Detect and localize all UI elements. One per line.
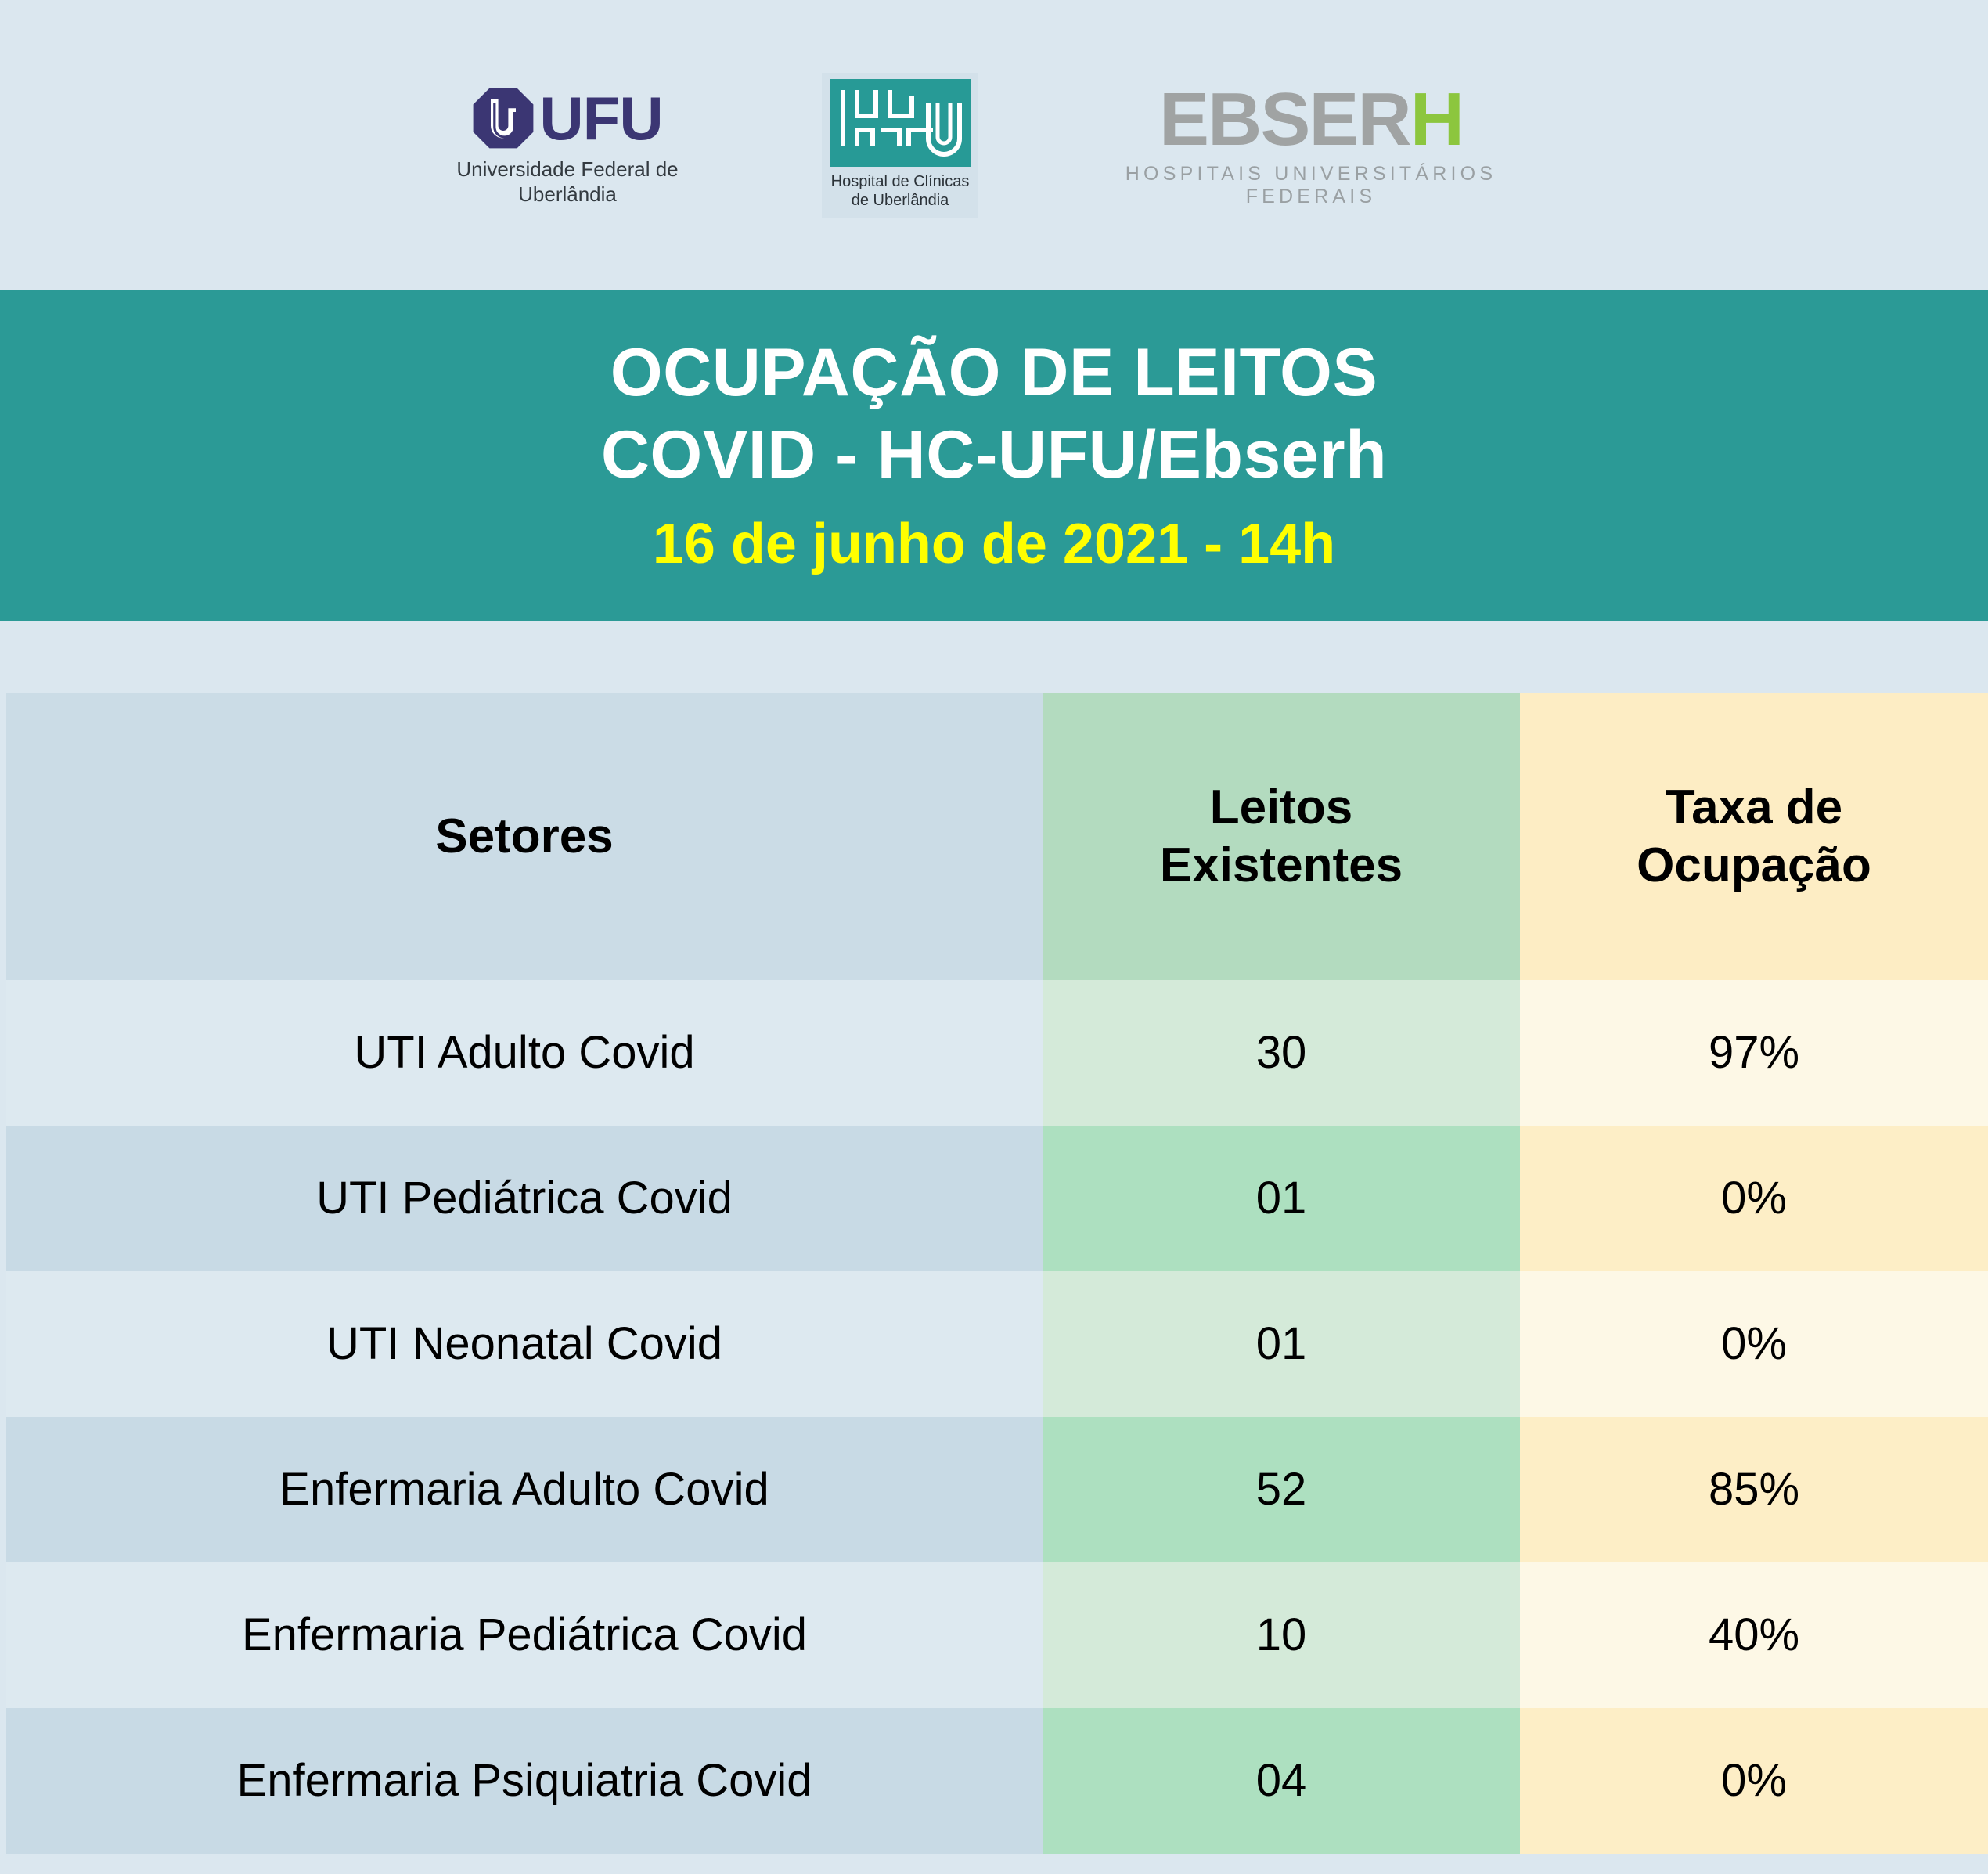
column-header-setores: Setores (6, 693, 1043, 980)
banner-title: OCUPAÇÃO DE LEITOS COVID - HC-UFU/Ebserh (601, 332, 1387, 496)
logo-bar: UFU Universidade Federal de Uberlândia (0, 0, 1988, 290)
ufu-emblem-icon (472, 87, 535, 150)
cell-leitos: 01 (1043, 1126, 1520, 1271)
column-header-leitos-line2: Existentes (1160, 837, 1403, 894)
cell-setor: Enfermaria Adulto Covid (6, 1417, 1043, 1562)
cell-leitos: 52 (1043, 1417, 1520, 1562)
table-row: Enfermaria Psiquiatria Covid 04 0% (6, 1708, 1988, 1854)
cell-taxa: 85% (1520, 1417, 1988, 1562)
column-header-taxa-line2: Ocupação (1637, 837, 1871, 894)
table-header-row: Setores Leitos Existentes Taxa de Ocupaç… (6, 693, 1988, 980)
banner-date: 16 de junho de 2021 - 14h (653, 510, 1335, 578)
occupancy-table: Setores Leitos Existentes Taxa de Ocupaç… (6, 693, 1988, 1854)
ebserh-wordmark-green: H (1410, 77, 1463, 161)
cell-taxa: 97% (1520, 980, 1988, 1126)
cell-leitos: 01 (1043, 1271, 1520, 1417)
cell-taxa: 0% (1520, 1126, 1988, 1271)
ufu-mark-row: UFU (472, 87, 662, 150)
column-header-leitos-existentes: Leitos Existentes (1043, 693, 1520, 980)
column-header-leitos-line1: Leitos (1160, 779, 1403, 836)
cell-taxa: 0% (1520, 1271, 1988, 1417)
ebserh-wordmark-gray: EBSER (1159, 77, 1410, 161)
ebserh-logo: EBSERH HOSPITAIS UNIVERSITÁRIOS FEDERAIS (1104, 81, 1518, 208)
ufu-subtitle-line1: Universidade Federal de (456, 157, 678, 182)
cell-setor: Enfermaria Psiquiatria Covid (6, 1708, 1043, 1854)
ufu-logo: UFU Universidade Federal de Uberlândia (438, 87, 697, 207)
cell-setor: UTI Neonatal Covid (6, 1271, 1043, 1417)
cell-leitos: 04 (1043, 1708, 1520, 1854)
infographic-page: UFU Universidade Federal de Uberlândia (0, 0, 1988, 1874)
ebserh-subtitle: HOSPITAIS UNIVERSITÁRIOS FEDERAIS (1104, 163, 1518, 208)
table-row: Enfermaria Adulto Covid 52 85% (6, 1417, 1988, 1562)
ufu-subtitle: Universidade Federal de Uberlândia (456, 157, 678, 207)
cell-leitos: 30 (1043, 980, 1520, 1126)
ebserh-wordmark: EBSERH (1159, 81, 1463, 158)
cell-taxa: 40% (1520, 1562, 1988, 1708)
banner-title-line1: OCUPAÇÃO DE LEITOS (601, 332, 1387, 414)
hc-ufu-emblem-icon (830, 79, 971, 167)
cell-setor: Enfermaria Pediátrica Covid (6, 1562, 1043, 1708)
cell-taxa: 0% (1520, 1708, 1988, 1854)
hc-ufu-logo: Hospital de Clínicas de Uberlândia (822, 73, 978, 218)
ufu-wordmark: UFU (539, 87, 662, 150)
cell-leitos: 10 (1043, 1562, 1520, 1708)
table-row: Enfermaria Pediátrica Covid 10 40% (6, 1562, 1988, 1708)
ufu-subtitle-line2: Uberlândia (456, 182, 678, 207)
title-banner: OCUPAÇÃO DE LEITOS COVID - HC-UFU/Ebserh… (0, 290, 1988, 621)
hc-subtitle-line1: Hospital de Clínicas (831, 172, 970, 191)
banner-title-line2: COVID - HC-UFU/Ebserh (601, 414, 1387, 496)
hc-subtitle: Hospital de Clínicas de Uberlândia (831, 172, 970, 210)
table-row: UTI Adulto Covid 30 97% (6, 980, 1988, 1126)
table-row: UTI Neonatal Covid 01 0% (6, 1271, 1988, 1417)
column-header-taxa-ocupacao: Taxa de Ocupação (1520, 693, 1988, 980)
column-header-taxa-line1: Taxa de (1637, 779, 1871, 836)
table-row: UTI Pediátrica Covid 01 0% (6, 1126, 1988, 1271)
cell-setor: UTI Adulto Covid (6, 980, 1043, 1126)
hc-subtitle-line2: de Uberlândia (831, 191, 970, 210)
cell-setor: UTI Pediátrica Covid (6, 1126, 1043, 1271)
